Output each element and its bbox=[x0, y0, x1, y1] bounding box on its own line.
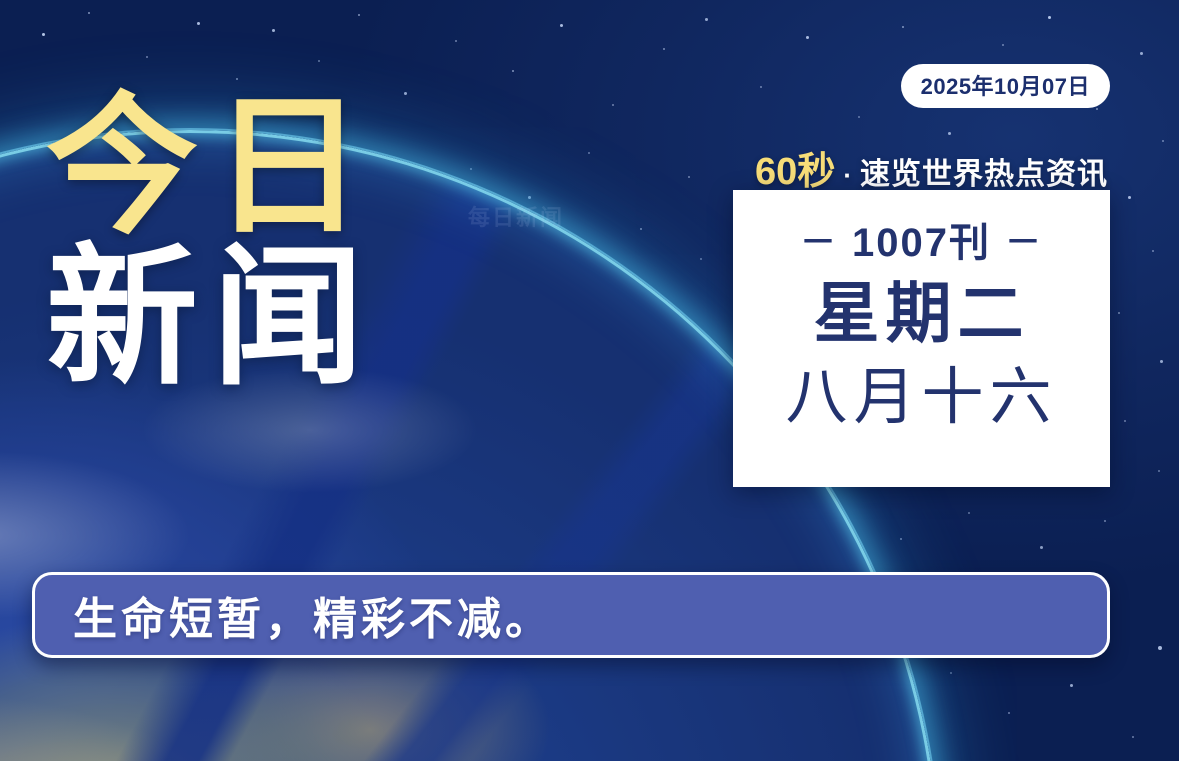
issue-number-row: － 1007刊 － bbox=[800, 210, 1043, 268]
poster-title: 今日 新闻 bbox=[46, 96, 378, 390]
tagline-seconds: 60秒 bbox=[755, 140, 835, 195]
lunar-date-label: 八月十六 bbox=[785, 365, 1057, 432]
date-badge: 2025年10月07日 bbox=[901, 64, 1110, 108]
issue-number: 1007刊 bbox=[852, 210, 991, 268]
title-line-today: 今日 bbox=[46, 96, 378, 239]
tagline-separator-dot: · bbox=[841, 160, 854, 191]
issue-dash-left: － bbox=[800, 213, 838, 265]
weekday-label: 星期二 bbox=[814, 278, 1030, 349]
title-line-news: 新闻 bbox=[46, 247, 378, 390]
quote-text: 生命短暂，精彩不减。 bbox=[35, 583, 553, 647]
date-info-card: － 1007刊 － 星期二 八月十六 bbox=[733, 190, 1110, 487]
issue-dash-right: － bbox=[1005, 213, 1043, 265]
tagline: 60秒 · 速览世界热点资讯 bbox=[755, 140, 1108, 195]
quote-bar: 生命短暂，精彩不减。 bbox=[32, 572, 1110, 658]
news-poster: 每日新闻 今日 新闻 2025年10月07日 60秒 · 速览世界热点资讯 － … bbox=[0, 0, 1179, 761]
tagline-text: 速览世界热点资讯 bbox=[860, 149, 1108, 193]
watermark-text: 每日新闻 bbox=[468, 200, 564, 232]
